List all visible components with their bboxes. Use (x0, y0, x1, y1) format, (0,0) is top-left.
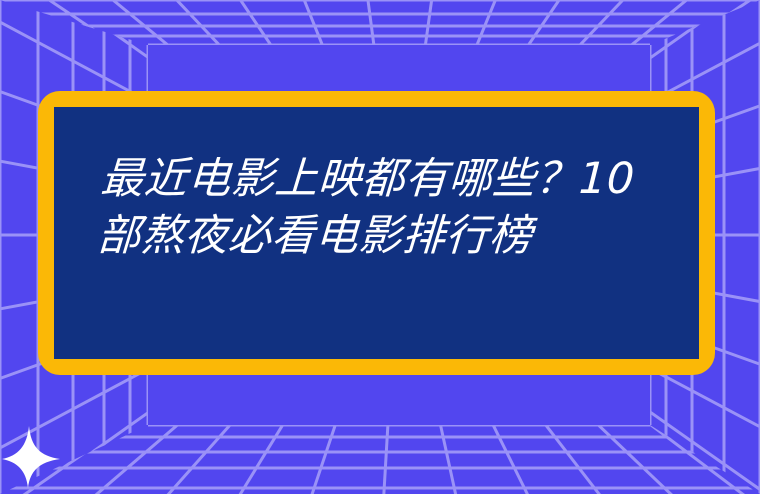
sparkle-star-icon (2, 426, 60, 488)
poster-canvas: 最近电影上映都有哪些？10部熬夜必看电影排行榜 (0, 0, 760, 494)
banner-card: 最近电影上映都有哪些？10部熬夜必看电影排行榜 (38, 91, 715, 375)
banner-inner-panel: 最近电影上映都有哪些？10部熬夜必看电影排行榜 (54, 107, 699, 359)
banner-headline: 最近电影上映都有哪些？10部熬夜必看电影排行榜 (96, 151, 669, 265)
